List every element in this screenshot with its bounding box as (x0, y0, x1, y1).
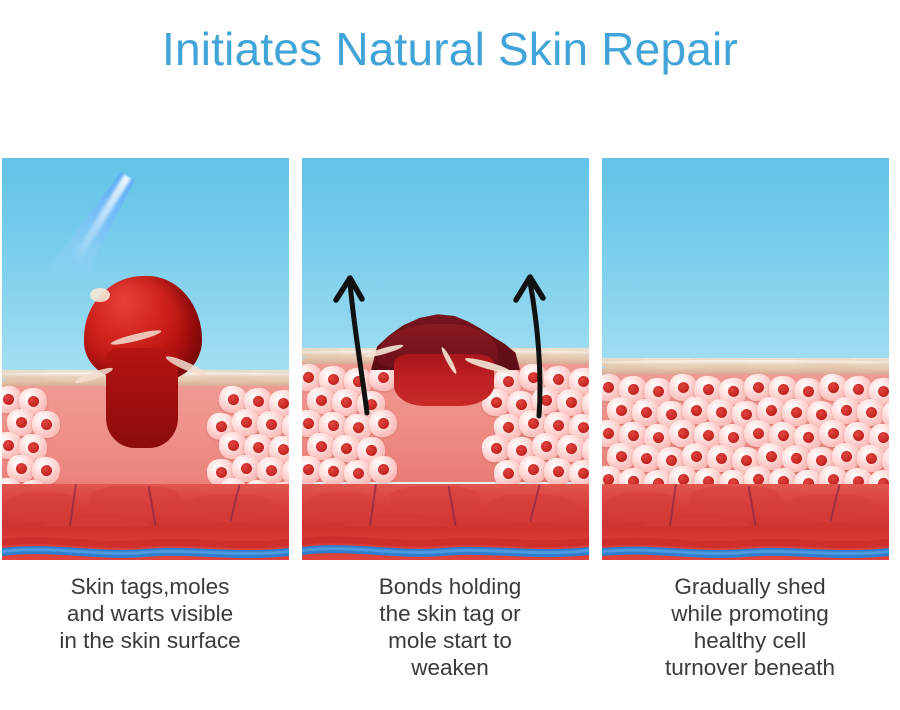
caption-line: and warts visible (14, 600, 286, 627)
lesion-stalk (106, 348, 178, 448)
blood-vessel-band (602, 526, 889, 560)
caption-panel-3: Gradually shed while promoting healthy c… (600, 573, 900, 693)
caption-panel-1: Skin tags,moles and warts visible in the… (0, 573, 300, 693)
caption-line: mole start to (314, 627, 586, 654)
caption-line: while promoting (614, 600, 886, 627)
upward-arrows-group (302, 158, 589, 560)
corneum-bump (692, 358, 758, 368)
caption-line: in the skin surface (14, 627, 286, 654)
upward-arrow-right-icon (516, 277, 543, 416)
caption-line: healthy cell (614, 627, 886, 654)
panel-2-loosening (302, 158, 589, 560)
caption-line: Skin tags,moles (14, 573, 286, 600)
illustration-panel-row (2, 158, 890, 560)
skin-lesion-dome (80, 276, 206, 444)
lesion-highlight (90, 288, 110, 302)
dermis-patch (608, 492, 678, 522)
upward-arrow-left-icon (336, 278, 367, 413)
corneum-bump (640, 358, 706, 370)
dermis-patch (690, 486, 780, 512)
dermis-patch (8, 492, 78, 522)
dermis-patch (90, 486, 180, 512)
caption-line: turnover beneath (614, 654, 886, 681)
caption-line: the skin tag or (314, 600, 586, 627)
corneum-bump (248, 370, 289, 382)
caption-line: Gradually shed (614, 573, 886, 600)
caption-line: weaken (314, 654, 586, 681)
panel-1-treatment (2, 158, 289, 560)
caption-panel-2: Bonds holding the skin tag or mole start… (300, 573, 600, 693)
corneum-bump (744, 358, 810, 370)
blood-vessel-band (2, 526, 289, 560)
vessel-shapes (2, 526, 289, 560)
panel-3-healed (602, 158, 889, 560)
caption-row: Skin tags,moles and warts visible in the… (0, 573, 900, 693)
epidermis-cell-field (602, 374, 889, 492)
page-title: Initiates Natural Skin Repair (0, 26, 900, 72)
corneum-bump (848, 358, 889, 370)
skin-cross-section (602, 358, 889, 560)
vessel-shapes (602, 526, 889, 560)
caption-line: Bonds holding (314, 573, 586, 600)
